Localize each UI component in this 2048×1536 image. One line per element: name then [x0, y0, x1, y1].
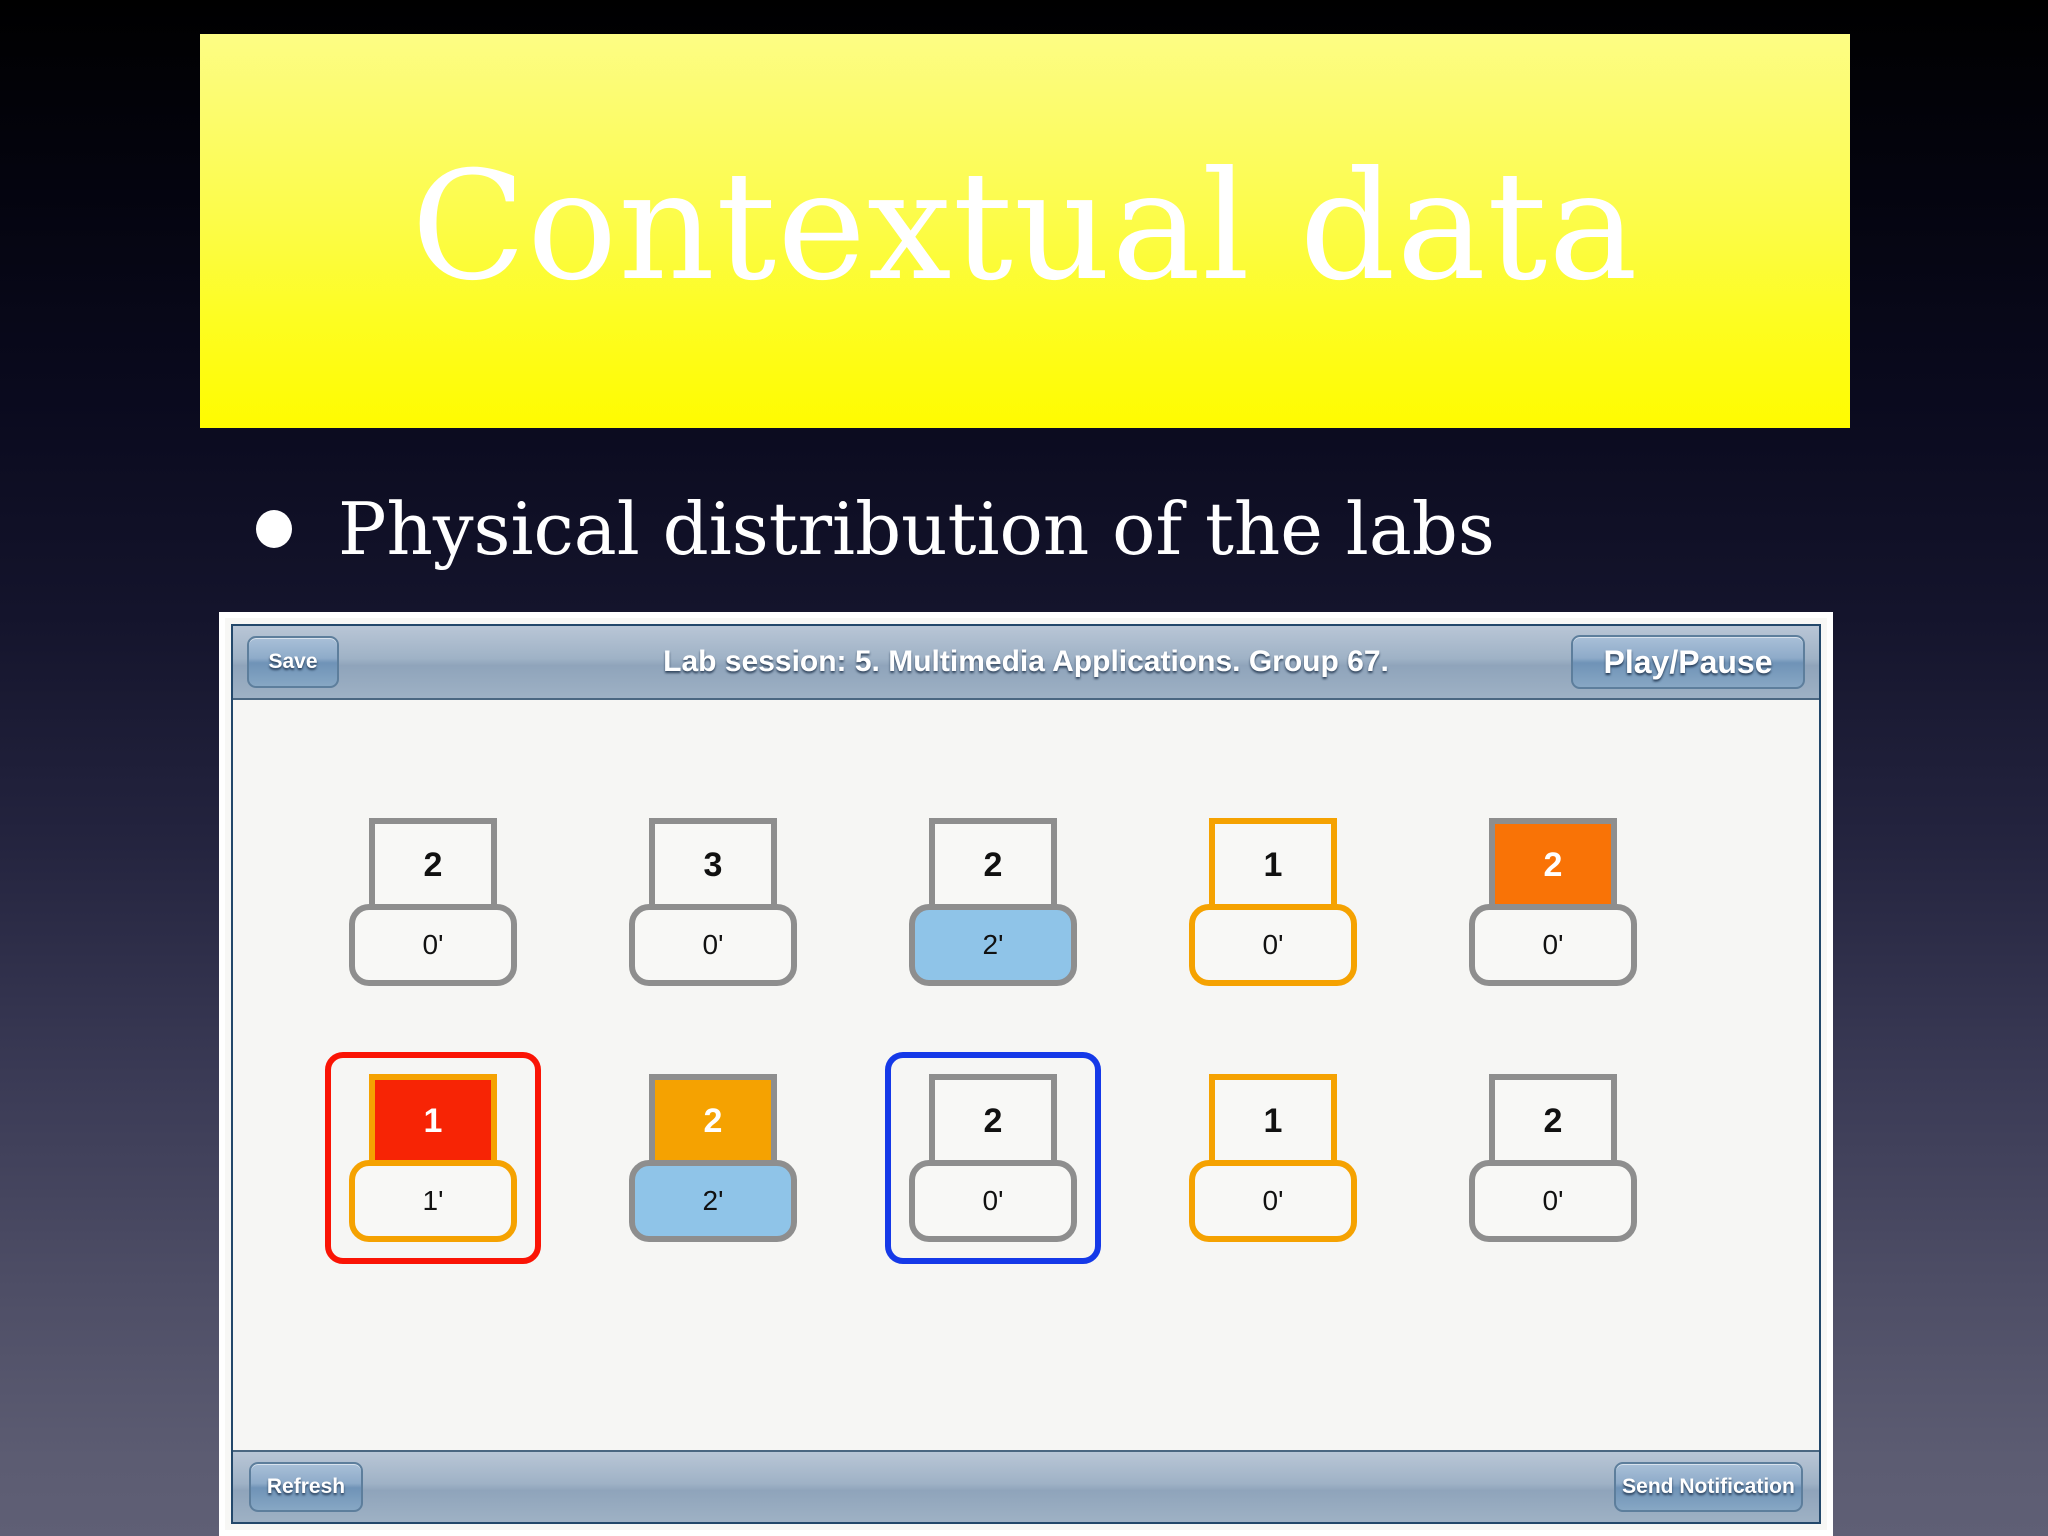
workstation-screen-icon: 2 — [369, 818, 497, 906]
window-inner-frame: Save Lab session: 5. Multimedia Applicat… — [231, 624, 1821, 1524]
workstation-grid: 20'30'22'10'20'11'22'20'10'20' — [293, 796, 1693, 1264]
workstation-screen-icon: 3 — [649, 818, 777, 906]
workstation[interactable]: 20' — [325, 796, 541, 1008]
workstation-desk-icon: 0' — [349, 904, 517, 986]
workstation-screen-icon: 2 — [929, 818, 1057, 906]
bullet-item-label: Physical distribution of the labs — [338, 493, 1495, 565]
play-pause-button[interactable]: Play/Pause — [1571, 635, 1805, 689]
bullet-list-item: Physical distribution of the labs — [256, 493, 1495, 565]
workstation-cell: 30' — [573, 796, 853, 1008]
workstation-desk-icon: 0' — [1469, 1160, 1637, 1242]
presentation-slide: Contextual data Physical distribution of… — [0, 0, 2048, 1536]
send-notification-button[interactable]: Send Notification — [1614, 1462, 1803, 1512]
workstation[interactable]: 20' — [1445, 1052, 1661, 1264]
lab-monitor-window: Save Lab session: 5. Multimedia Applicat… — [219, 612, 1833, 1536]
workstation-cell: 20' — [1413, 796, 1693, 1008]
save-button[interactable]: Save — [247, 636, 339, 688]
workstation-screen-icon: 1 — [1209, 818, 1337, 906]
slide-title-banner: Contextual data — [200, 34, 1850, 428]
workstation-cell: 10' — [1133, 796, 1413, 1008]
workstation-cell: 20' — [293, 796, 573, 1008]
workstation-cell: 20' — [853, 1052, 1133, 1264]
workstation-screen-icon: 2 — [1489, 818, 1617, 906]
workstation[interactable]: 30' — [605, 796, 821, 1008]
workstation-row: 11'22'20'10'20' — [293, 1052, 1693, 1264]
workstation[interactable]: 10' — [1165, 1052, 1381, 1264]
window-titlebar: Save Lab session: 5. Multimedia Applicat… — [233, 626, 1819, 700]
workstation-desk-icon: 2' — [909, 904, 1077, 986]
workstation-desk-icon: 0' — [909, 1160, 1077, 1242]
workstation-screen-icon: 2 — [1489, 1074, 1617, 1162]
workstation[interactable]: 10' — [1165, 796, 1381, 1008]
workstation[interactable]: 11' — [325, 1052, 541, 1264]
lab-layout-canvas: 20'30'22'10'20'11'22'20'10'20' — [233, 700, 1819, 1452]
page-title: Contextual data — [411, 152, 1638, 302]
workstation-screen-icon: 2 — [649, 1074, 777, 1162]
workstation-desk-icon: 1' — [349, 1160, 517, 1242]
workstation-cell: 20' — [1413, 1052, 1693, 1264]
workstation-cell: 22' — [573, 1052, 853, 1264]
workstation-desk-icon: 0' — [1189, 1160, 1357, 1242]
workstation-desk-icon: 0' — [1469, 904, 1637, 986]
window-bottom-toolbar: Refresh Send Notification — [233, 1452, 1819, 1522]
workstation[interactable]: 20' — [1445, 796, 1661, 1008]
workstation-screen-icon: 1 — [369, 1074, 497, 1162]
bullet-dot-icon — [256, 510, 292, 548]
workstation-desk-icon: 0' — [1189, 904, 1357, 986]
workstation-screen-icon: 1 — [1209, 1074, 1337, 1162]
refresh-button[interactable]: Refresh — [249, 1462, 363, 1512]
workstation-row: 20'30'22'10'20' — [293, 796, 1693, 1008]
workstation-cell: 10' — [1133, 1052, 1413, 1264]
workstation-cell: 22' — [853, 796, 1133, 1008]
workstation-cell: 11' — [293, 1052, 573, 1264]
workstation-desk-icon: 2' — [629, 1160, 797, 1242]
workstation-screen-icon: 2 — [929, 1074, 1057, 1162]
workstation[interactable]: 20' — [885, 1052, 1101, 1264]
workstation[interactable]: 22' — [885, 796, 1101, 1008]
workstation[interactable]: 22' — [605, 1052, 821, 1264]
workstation-desk-icon: 0' — [629, 904, 797, 986]
